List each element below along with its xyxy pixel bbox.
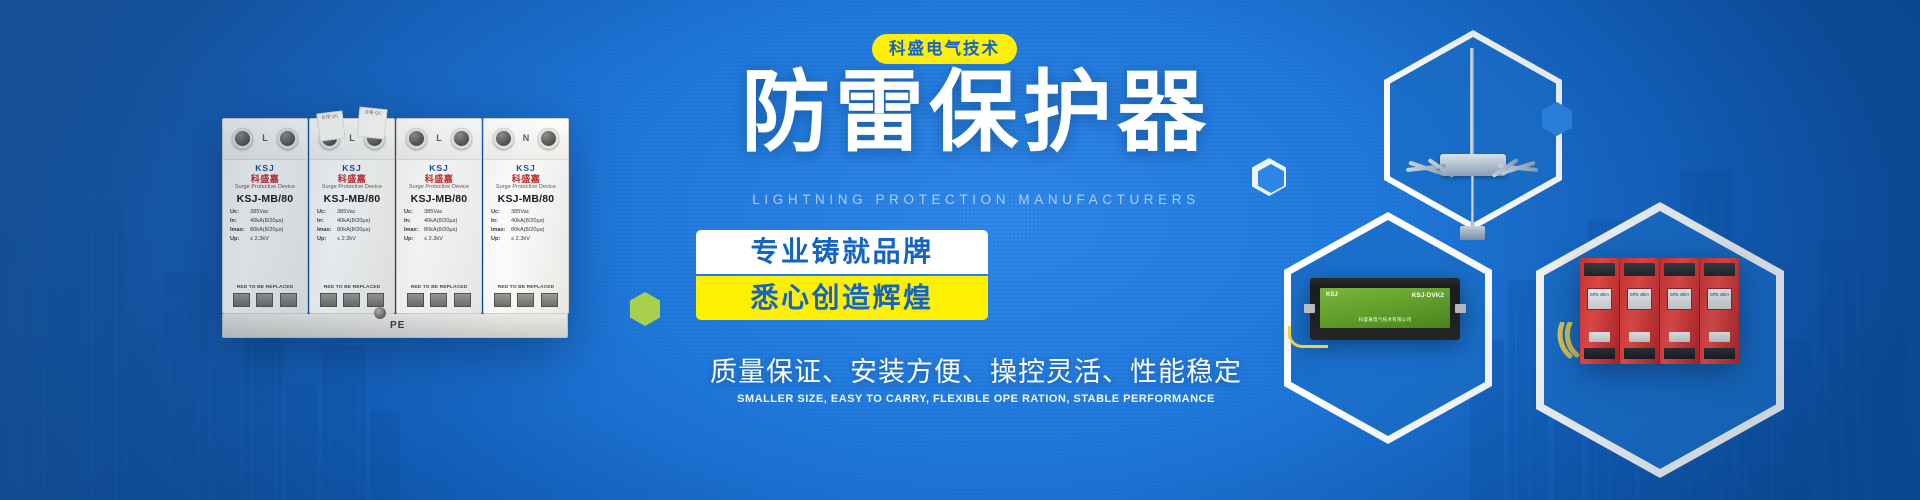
indicator-window bbox=[256, 293, 273, 307]
module-status-lever bbox=[1589, 332, 1610, 342]
page-title: 防雷保护器 bbox=[592, 68, 1360, 157]
lightning-rod-base bbox=[1460, 226, 1485, 240]
product-red-spd-modules: SPD 40kA SPD 40kA SPD 40kA bbox=[1580, 258, 1740, 364]
terminal-label: L bbox=[223, 133, 307, 143]
spd-module: N KSJ 科盛嘉 Surge Protective Device KSJ-MB… bbox=[483, 118, 569, 314]
product-photo-spd-modules: L KSJ 科盛嘉 Surge Protective Device KSJ-MB… bbox=[222, 118, 568, 338]
spec-row: Imax:80kA(8/20µs) bbox=[404, 226, 475, 235]
module-label-window: SPD 40kA bbox=[1627, 288, 1652, 310]
module-warning-text: RED TO BE REPLACED bbox=[484, 285, 568, 290]
indicator-window bbox=[407, 293, 424, 307]
spec-row: In:40kA(8/20µs) bbox=[317, 217, 388, 226]
indicator-window bbox=[454, 293, 471, 307]
module-terminal-block bbox=[1704, 348, 1735, 359]
indicator-window bbox=[367, 293, 384, 307]
module-window-text: SPD 40kA bbox=[1708, 292, 1731, 297]
red-spd-module: SPD 40kA bbox=[1620, 258, 1659, 364]
promo-banner: L KSJ 科盛嘉 Surge Protective Device KSJ-MB… bbox=[0, 0, 1920, 500]
module-model: KSJ-MB/80 bbox=[310, 193, 394, 205]
module-terminal-block bbox=[1584, 263, 1615, 276]
indicator-window bbox=[343, 293, 360, 307]
spec-row: Up:≤ 2.3kV bbox=[491, 235, 562, 244]
spec-row: Imax:80kA(8/20µs) bbox=[317, 226, 388, 235]
red-spd-module: SPD 40kA bbox=[1580, 258, 1619, 364]
module-warning-text: RED TO BE REPLACED bbox=[223, 285, 307, 290]
product-hexagon-cluster: KSJ KSJ-DVK2 科盛嘉电气技术有限公司 SPD 40kA bbox=[1280, 30, 1880, 470]
indicator-window bbox=[430, 293, 447, 307]
module-label-window: SPD 40kA bbox=[1667, 288, 1692, 310]
spec-row: Up:≤ 2.3kV bbox=[230, 235, 301, 244]
module-terminal-block bbox=[1584, 348, 1615, 359]
indicator-window-row bbox=[317, 293, 387, 307]
spec-row: In:40kA(8/20µs) bbox=[404, 217, 475, 226]
spd-box-terminal-lug bbox=[1304, 304, 1315, 313]
feature-list-english: SMALLER SIZE, EASY TO CARRY, FLEXIBLE OP… bbox=[592, 393, 1360, 405]
red-spd-module: SPD 40kA bbox=[1660, 258, 1699, 364]
spec-row: Uc:385Vac bbox=[230, 208, 301, 217]
module-terminal-block bbox=[1704, 263, 1735, 276]
spd-box-terminal-lug bbox=[1455, 304, 1466, 313]
qc-sticker: 合格 QC bbox=[357, 107, 388, 140]
indicator-window-row bbox=[491, 293, 561, 307]
spd-box-pcb-text: 科盛嘉电气技术有限公司 bbox=[1320, 317, 1450, 323]
slogan-plates: 专业铸就品牌 悉心创造辉煌 bbox=[696, 230, 1296, 320]
qc-sticker: 合格 QC bbox=[316, 111, 345, 142]
spd-box-model: KSJ-DVK2 bbox=[1412, 292, 1444, 299]
spec-row: In:40kA(8/20µs) bbox=[491, 217, 562, 226]
spec-row: Uc:385Vac bbox=[404, 208, 475, 217]
indicator-window bbox=[320, 293, 337, 307]
module-spec-table: Uc:385Vac In:40kA(8/20µs) Imax:80kA(8/20… bbox=[230, 208, 301, 244]
spd-box-yellow-wire bbox=[1288, 326, 1328, 348]
indicator-window bbox=[517, 293, 534, 307]
module-window-text: SPD 40kA bbox=[1588, 292, 1611, 297]
module-label-window: SPD 40kA bbox=[1587, 288, 1612, 310]
slogan-plate-secondary: 悉心创造辉煌 bbox=[696, 276, 988, 320]
module-warning-text: RED TO BE REPLACED bbox=[397, 285, 481, 290]
terminal-label: L bbox=[397, 133, 481, 143]
module-terminal-block bbox=[1664, 348, 1695, 359]
module-status-lever bbox=[1709, 332, 1730, 342]
module-terminal-block bbox=[1624, 348, 1655, 359]
slogan-plate-primary: 专业铸就品牌 bbox=[696, 230, 988, 274]
indicator-window-row bbox=[404, 293, 474, 307]
module-warning-text: RED TO BE REPLACED bbox=[310, 285, 394, 290]
module-spec-table: Uc:385Vac In:40kA(8/20µs) Imax:80kA(8/20… bbox=[491, 208, 562, 244]
spec-row: Up:≤ 2.3kV bbox=[404, 235, 475, 244]
spec-row: Imax:80kA(8/20µs) bbox=[230, 226, 301, 235]
spec-row: Uc:385Vac bbox=[317, 208, 388, 217]
module-model: KSJ-MB/80 bbox=[484, 193, 568, 205]
module-status-lever bbox=[1629, 332, 1650, 342]
hexagon-icon bbox=[630, 292, 660, 326]
spd-module: L KSJ 科盛嘉 Surge Protective Device KSJ-MB… bbox=[396, 118, 482, 314]
spec-row: Imax:80kA(8/20µs) bbox=[491, 226, 562, 235]
product-spd-signal-box: KSJ KSJ-DVK2 科盛嘉电气技术有限公司 bbox=[1310, 278, 1460, 340]
terminal-label: N bbox=[484, 133, 568, 143]
module-window-text: SPD 40kA bbox=[1628, 292, 1651, 297]
spd-module-row: L KSJ 科盛嘉 Surge Protective Device KSJ-MB… bbox=[222, 118, 570, 314]
pe-ground-screw bbox=[374, 307, 386, 319]
module-terminal-block bbox=[1624, 263, 1655, 276]
brand-badge: 科盛电气技术 bbox=[872, 34, 1017, 64]
spd-box-brand: KSJ bbox=[1326, 292, 1338, 298]
indicator-window bbox=[280, 293, 297, 307]
indicator-window bbox=[233, 293, 250, 307]
module-device-type: Surge Protective Device bbox=[310, 184, 394, 190]
module-device-type: Surge Protective Device bbox=[484, 184, 568, 190]
banner-copy-block: 科盛电气技术 防雷保护器 LIGHTNING PROTECTION MANUFA… bbox=[600, 0, 1360, 500]
module-window-text: SPD 40kA bbox=[1668, 292, 1691, 297]
spec-row: In:40kA(8/20µs) bbox=[230, 217, 301, 226]
module-device-type: Surge Protective Device bbox=[223, 184, 307, 190]
spd-box-pcb: KSJ KSJ-DVK2 科盛嘉电气技术有限公司 bbox=[1320, 288, 1450, 328]
module-status-lever bbox=[1669, 332, 1690, 342]
indicator-window bbox=[494, 293, 511, 307]
title-subtitle-english: LIGHTNING PROTECTION MANUFACTURERS bbox=[592, 192, 1360, 207]
spec-row: Up:≤ 2.3kV bbox=[317, 235, 388, 244]
indicator-window bbox=[541, 293, 558, 307]
module-terminal-block bbox=[1664, 263, 1695, 276]
spd-module: L KSJ 科盛嘉 Surge Protective Device KSJ-MB… bbox=[222, 118, 308, 314]
lightning-rod-stem bbox=[1471, 176, 1474, 228]
module-device-type: Surge Protective Device bbox=[397, 184, 481, 190]
pe-label: PE bbox=[390, 320, 405, 331]
red-spd-module: SPD 40kA bbox=[1700, 258, 1739, 364]
module-spec-table: Uc:385Vac In:40kA(8/20µs) Imax:80kA(8/20… bbox=[404, 208, 475, 244]
module-spec-table: Uc:385Vac In:40kA(8/20µs) Imax:80kA(8/20… bbox=[317, 208, 388, 244]
feature-list-chinese: 质量保证、安装方便、操控灵活、性能稳定 bbox=[592, 350, 1360, 389]
spec-row: Uc:385Vac bbox=[491, 208, 562, 217]
spd-module: L KSJ 科盛嘉 Surge Protective Device KSJ-MB… bbox=[309, 118, 395, 314]
module-label-window: SPD 40kA bbox=[1707, 288, 1732, 310]
module-model: KSJ-MB/80 bbox=[397, 193, 481, 205]
indicator-window-row bbox=[230, 293, 300, 307]
module-model: KSJ-MB/80 bbox=[223, 193, 307, 205]
lightning-rod-mast bbox=[1470, 48, 1474, 168]
